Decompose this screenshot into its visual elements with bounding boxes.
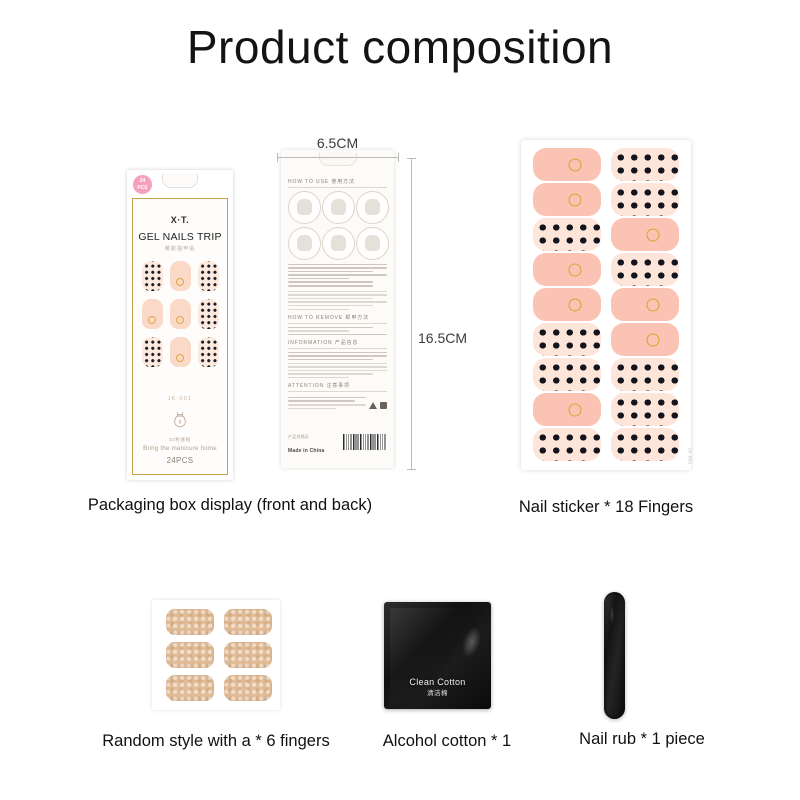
front-headline: GEL NAILS TRIP bbox=[133, 231, 227, 243]
information-heading: INFORMATION 产品信息 bbox=[288, 339, 387, 349]
how-to-use-heading: HOW TO USE 使用方法 bbox=[288, 178, 387, 188]
sticker-nail bbox=[533, 393, 601, 426]
attention-heading: ATTENTION 注意事项 bbox=[288, 382, 387, 392]
front-nail-grid bbox=[141, 261, 219, 367]
cotton-label: Clean Cotton bbox=[384, 677, 491, 687]
sticker-nail bbox=[611, 218, 679, 251]
caption-nail-rub: Nail rub * 1 piece bbox=[562, 730, 722, 749]
sticker-nail bbox=[533, 288, 601, 321]
file-edge-icon bbox=[322, 227, 355, 260]
select-size-icon bbox=[322, 191, 355, 224]
nail-chip bbox=[142, 299, 163, 329]
money-pouch-icon: $ bbox=[172, 411, 188, 434]
tan-nail-sticker bbox=[224, 609, 272, 635]
polka-dot-pattern bbox=[611, 428, 679, 461]
attention-text bbox=[288, 397, 366, 411]
polka-dot-pattern bbox=[533, 218, 601, 251]
nail-chip bbox=[142, 337, 163, 367]
sticker-nail bbox=[611, 288, 679, 321]
warning-triangle-icon bbox=[369, 402, 377, 409]
hang-hole bbox=[162, 174, 198, 188]
clean-nail-icon bbox=[288, 191, 321, 224]
polka-dot-pattern bbox=[611, 358, 679, 391]
sticker-nail bbox=[611, 148, 679, 181]
peel-sticker-icon bbox=[356, 191, 389, 224]
sticker-sheet-code: JK-001 bbox=[687, 448, 692, 465]
how-to-use-steps bbox=[288, 191, 387, 260]
sticker-nail bbox=[611, 253, 679, 286]
sticker-nail bbox=[533, 253, 601, 286]
dimension-width-label: 6.5CM bbox=[281, 135, 394, 151]
information-text bbox=[288, 352, 387, 379]
how-to-use-text-en bbox=[288, 291, 387, 310]
gold-ring-icon bbox=[176, 354, 184, 362]
sticker-nail bbox=[533, 148, 601, 181]
gold-ring-icon bbox=[176, 316, 184, 324]
made-in-label: Made in China bbox=[288, 448, 325, 454]
front-cn-tagline: 30秒速贴 bbox=[133, 437, 227, 443]
tan-nail-sticker bbox=[166, 675, 214, 701]
certification-label: 产品合格证 bbox=[288, 434, 309, 440]
caption-alcohol-cotton: Alcohol cotton * 1 bbox=[374, 732, 520, 751]
front-quantity: 24PCS bbox=[133, 456, 227, 465]
no-children-icon bbox=[380, 402, 387, 409]
sticker-nail bbox=[533, 428, 601, 461]
nail-chip bbox=[142, 261, 163, 291]
polka-dot-pattern bbox=[533, 358, 601, 391]
sticker-nail bbox=[611, 358, 679, 391]
dimension-height-line bbox=[411, 158, 412, 470]
back-box-content: HOW TO USE 使用方法 HOW TO REMOVE 卸甲方法 INFOR… bbox=[288, 178, 387, 462]
page-title: Product composition bbox=[0, 20, 800, 74]
dimension-width-line bbox=[277, 157, 399, 158]
polka-dot-pattern bbox=[611, 393, 679, 426]
gold-ring-icon bbox=[569, 298, 582, 311]
nail-sticker-sheet[interactable]: JK-001 bbox=[521, 140, 691, 470]
caption-packaging: Packaging box display (front and back) bbox=[0, 496, 460, 515]
brand-logo: X·T. bbox=[133, 215, 227, 225]
random-style-sheet[interactable] bbox=[152, 600, 280, 710]
gold-ring-icon bbox=[569, 403, 582, 416]
sticker-nail bbox=[611, 393, 679, 426]
nail-chip bbox=[198, 299, 219, 329]
hang-hole bbox=[319, 153, 357, 166]
sticker-nail bbox=[611, 183, 679, 216]
tan-nail-sticker bbox=[224, 675, 272, 701]
alcohol-cotton-packet[interactable]: Clean Cotton 清洁棉 bbox=[384, 602, 491, 709]
polka-dot-pattern bbox=[533, 428, 601, 461]
sticker-nail bbox=[533, 218, 601, 251]
nail-chip bbox=[198, 261, 219, 291]
packaging-box-front[interactable]: 24 PCS X·T. GEL NAILS TRIP 凝胶指甲贴 JK-001 … bbox=[127, 170, 233, 480]
nail-chip bbox=[170, 337, 191, 367]
tan-nail-sticker bbox=[166, 609, 214, 635]
sticker-nail bbox=[533, 323, 601, 356]
packaging-box-back[interactable]: HOW TO USE 使用方法 HOW TO REMOVE 卸甲方法 INFOR… bbox=[281, 150, 394, 468]
apply-sticker-icon bbox=[288, 227, 321, 260]
gold-ring-icon bbox=[148, 316, 156, 324]
gold-ring-icon bbox=[647, 298, 660, 311]
nail-chip bbox=[170, 261, 191, 291]
gold-ring-icon bbox=[569, 158, 582, 171]
gold-ring-icon bbox=[569, 193, 582, 206]
gold-ring-icon bbox=[176, 278, 184, 286]
pcs-badge: 24 PCS bbox=[133, 175, 152, 194]
polka-dot-pattern bbox=[198, 337, 219, 367]
front-box-inner: X·T. GEL NAILS TRIP 凝胶指甲贴 JK-001 $ 30秒速贴… bbox=[132, 198, 228, 475]
how-to-remove-text bbox=[288, 327, 387, 336]
warning-icons bbox=[288, 395, 387, 415]
front-tagline: Bring the manicure home bbox=[133, 445, 227, 452]
polka-dot-pattern bbox=[611, 253, 679, 286]
sticker-nail bbox=[611, 323, 679, 356]
svg-text:$: $ bbox=[179, 418, 182, 425]
dimension-height-label: 16.5CM bbox=[418, 330, 467, 346]
caption-random-style: Random style with a * 6 fingers bbox=[60, 732, 372, 751]
press-sticker-icon bbox=[356, 227, 389, 260]
polka-dot-pattern bbox=[533, 323, 601, 356]
nail-chip bbox=[170, 299, 191, 329]
polka-dot-pattern bbox=[611, 183, 679, 216]
sticker-nail bbox=[533, 358, 601, 391]
caption-nail-sticker: Nail sticker * 18 Fingers bbox=[496, 498, 716, 517]
gold-ring-icon bbox=[647, 333, 660, 346]
pcs-badge-unit: PCS bbox=[137, 185, 147, 191]
polka-dot-pattern bbox=[142, 337, 163, 367]
polka-dot-pattern bbox=[611, 148, 679, 181]
gold-ring-icon bbox=[569, 263, 582, 276]
tan-nail-sticker bbox=[224, 642, 272, 668]
sticker-nail bbox=[533, 183, 601, 216]
nail-file[interactable] bbox=[604, 592, 625, 719]
front-subtitle-cn: 凝胶指甲贴 bbox=[133, 245, 227, 252]
polka-dot-pattern bbox=[198, 261, 219, 291]
barcode bbox=[343, 434, 387, 450]
how-to-remove-heading: HOW TO REMOVE 卸甲方法 bbox=[288, 314, 387, 324]
sticker-nail bbox=[611, 428, 679, 461]
front-product-code: JK-001 bbox=[133, 396, 227, 402]
polka-dot-pattern bbox=[198, 299, 219, 329]
tan-nail-sticker bbox=[166, 642, 214, 668]
polka-dot-pattern bbox=[142, 261, 163, 291]
nail-chip bbox=[198, 337, 219, 367]
cotton-label-cn: 清洁棉 bbox=[384, 687, 491, 697]
gold-ring-icon bbox=[647, 228, 660, 241]
how-to-use-text-cn bbox=[288, 264, 387, 287]
